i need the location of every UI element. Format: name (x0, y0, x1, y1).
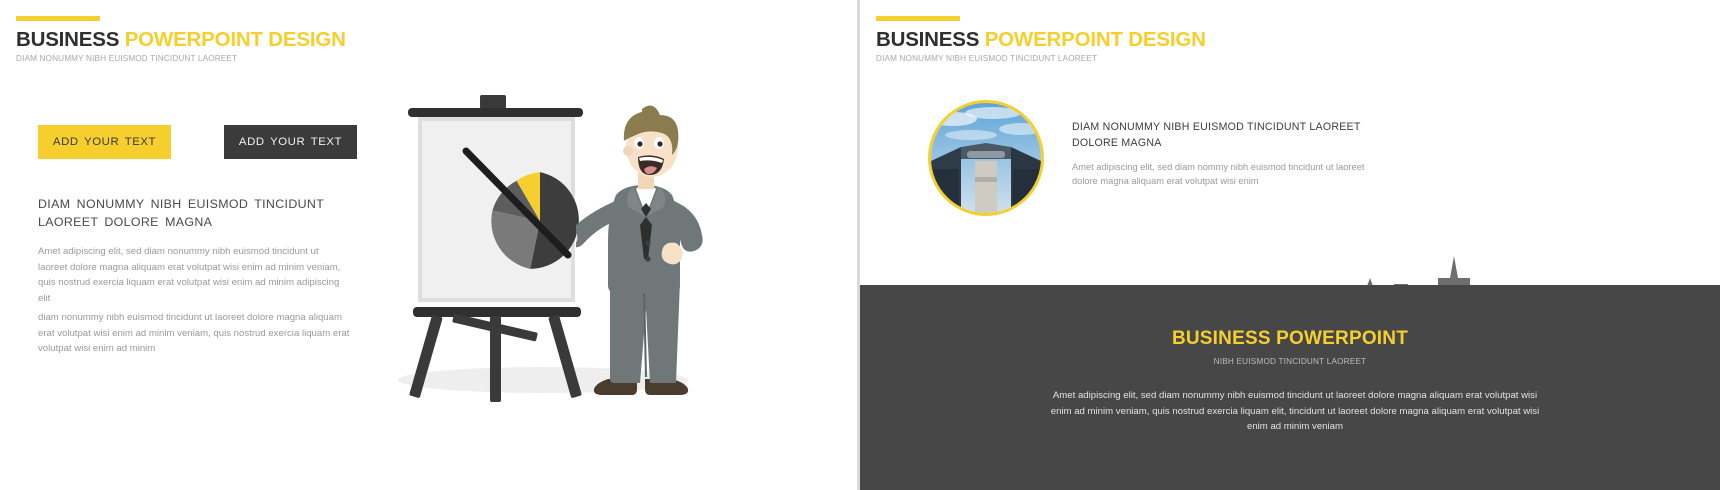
footer-body-text: Amet adipiscing elit, sed diam nonummy n… (1050, 388, 1540, 435)
left-section-heading: DIAM NONUMMY NIBH EUISMOD TINCIDUNT LAOR… (38, 196, 358, 232)
slide-pair-canvas: BUSINESS POWERPOINT DESIGN DIAM NONUMMY … (0, 0, 1720, 490)
easel-leg-center (490, 316, 501, 402)
page-subtitle: DIAM NONUMMY NIBH EUISMOD TINCIDUNT LAOR… (16, 54, 346, 63)
header-accent-rule-right (876, 16, 960, 21)
header-accent-rule (16, 16, 100, 21)
slide-right: BUSINESS POWERPOINT DESIGN DIAM NONUMMY … (860, 0, 1720, 490)
slide-right-header: BUSINESS POWERPOINT DESIGN DIAM NONUMMY … (876, 16, 1206, 63)
footer-subtitle: NIBH EUISMOD TINCIDUNT LAOREET (860, 357, 1720, 366)
slide-left-header: BUSINESS POWERPOINT DESIGN DIAM NONUMMY … (16, 16, 346, 63)
right-body-paragraph: Amet adipiscing elit, sed diam nommy nib… (1072, 160, 1382, 189)
page-title: BUSINESS POWERPOINT DESIGN (16, 29, 346, 51)
footer-title: BUSINESS POWERPOINT (860, 328, 1720, 350)
add-your-text-button-primary[interactable]: ADD YOUR TEXT (38, 125, 171, 159)
cloud-4 (945, 130, 997, 140)
eye-right-pupil (657, 141, 662, 146)
button-row: ADD YOUR TEXT ADD YOUR TEXT (38, 125, 357, 159)
eye-left-pupil (637, 141, 642, 146)
pointer-shaft (466, 151, 568, 255)
page-title-right: BUSINESS POWERPOINT DESIGN (876, 29, 1206, 51)
add-your-text-button-secondary[interactable]: ADD YOUR TEXT (224, 125, 357, 159)
canopy-band (967, 151, 1005, 158)
slide-left: BUSINESS POWERPOINT DESIGN DIAM NONUMMY … (0, 0, 860, 490)
page-title-accent-right: POWERPOINT DESIGN (985, 28, 1206, 51)
cloud-3 (999, 123, 1041, 135)
page-subtitle-right: DIAM NONUMMY NIBH EUISMOD TINCIDUNT LAOR… (876, 54, 1206, 63)
left-body-paragraph-2: diam nonummy nibh euismod tincidunt ut l… (38, 310, 350, 357)
easel-top-knob (480, 95, 506, 109)
right-section-heading: DIAM NONUMMY NIBH EUISMOD TINCIDUNT LAOR… (1072, 120, 1402, 151)
jacket-button-top (645, 240, 650, 245)
easel-top-bar (408, 108, 583, 117)
ear (623, 146, 633, 156)
page-title-bold: BUSINESS (16, 28, 119, 51)
page-title-bold-right: BUSINESS (876, 28, 979, 51)
cloud-2 (965, 107, 1021, 119)
jacket-button-bottom (645, 256, 650, 261)
businessman-figure (576, 103, 744, 403)
presenter-illustration (380, 95, 750, 425)
column-band (975, 177, 997, 182)
page-title-accent: POWERPOINT DESIGN (125, 28, 346, 51)
left-body-paragraph-1: Amet adipiscing elit, sed diam nonummy n… (38, 244, 350, 307)
pointer-stick (452, 143, 592, 273)
